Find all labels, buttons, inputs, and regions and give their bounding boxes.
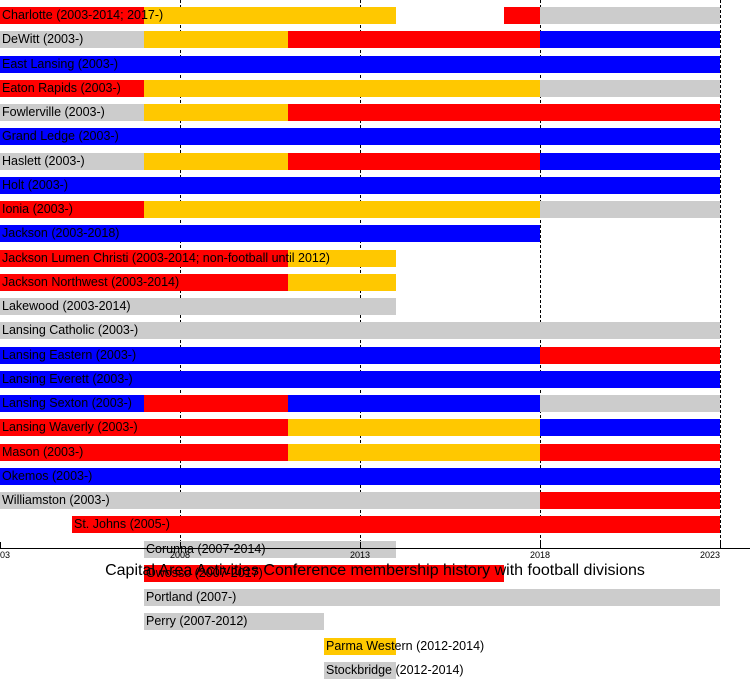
timeline-segment-red <box>709 444 720 461</box>
timeline-row-label: Holt (2003-) <box>0 177 70 194</box>
timeline-row[interactable]: Ionia (2003-) <box>0 201 750 218</box>
timeline-segment-yellow <box>144 80 540 97</box>
timeline-row-label: Jackson Northwest (2003-2014) <box>0 274 181 291</box>
timeline-row[interactable]: Jackson Northwest (2003-2014) <box>0 274 750 291</box>
timeline-row-label: Lakewood (2003-2014) <box>0 298 133 315</box>
timeline-segment-red <box>144 395 288 412</box>
timeline-row-label: Haslett (2003-) <box>0 153 87 170</box>
timeline-segment-blue <box>0 177 720 194</box>
timeline-row[interactable]: Fowlerville (2003-) <box>0 104 750 121</box>
timeline-row[interactable]: Parma Western (2012-2014) <box>0 638 750 655</box>
plot-area: Charlotte (2003-2014; 2017-)DeWitt (2003… <box>0 0 750 550</box>
timeline-row[interactable]: Okemos (2003-) <box>0 468 750 485</box>
timeline-segment-red <box>288 153 540 170</box>
timeline-segment-yellow <box>288 444 540 461</box>
timeline-row[interactable]: Lakewood (2003-2014) <box>0 298 750 315</box>
chart-title: Capital Area Activities Conference membe… <box>0 562 750 580</box>
timeline-row-label: Lansing Waverly (2003-) <box>0 419 140 436</box>
timeline-row[interactable]: Holt (2003-) <box>0 177 750 194</box>
timeline-segment-red <box>540 104 720 121</box>
timeline-segment-yellow <box>144 7 396 24</box>
timeline-row[interactable]: Corunna (2007-2014) <box>0 541 750 558</box>
timeline-row[interactable]: Perry (2007-2012) <box>0 613 750 630</box>
timeline-segment-yellow <box>144 153 288 170</box>
timeline-row[interactable]: Mason (2003-) <box>0 444 750 461</box>
timeline-segment-blue <box>0 468 720 485</box>
timeline-segment-yellow <box>144 104 288 121</box>
timeline-row[interactable]: Jackson (2003-2018) <box>0 225 750 242</box>
timeline-row-label: Okemos (2003-) <box>0 468 94 485</box>
x-tick-label: 2008 <box>170 550 190 560</box>
timeline-row[interactable]: Lansing Sexton (2003-) <box>0 395 750 412</box>
timeline-row-label: Perry (2007-2012) <box>144 613 249 630</box>
timeline-row-label: DeWitt (2003-) <box>0 31 85 48</box>
timeline-row-label: Mason (2003-) <box>0 444 85 461</box>
timeline-segment-yellow <box>288 274 396 291</box>
x-tick-mark <box>540 542 541 549</box>
timeline-row[interactable]: Portland (2007-) <box>0 589 750 606</box>
timeline-row-label: Grand Ledge (2003-) <box>0 128 121 145</box>
timeline-row-label: East Lansing (2003-) <box>0 56 120 73</box>
timeline-row-label: Charlotte (2003-2014; 2017-) <box>0 7 165 24</box>
timeline-row[interactable]: Jackson Lumen Christi (2003-2014; non-fo… <box>0 250 750 267</box>
timeline-row-label: Lansing Eastern (2003-) <box>0 347 138 364</box>
timeline-segment-red <box>540 347 720 364</box>
timeline-row[interactable]: Stockbridge (2012-2014) <box>0 662 750 679</box>
timeline-row-label: Eaton Rapids (2003-) <box>0 80 123 97</box>
timeline-row-label: Ionia (2003-) <box>0 201 75 218</box>
timeline-segment-blue <box>288 395 540 412</box>
timeline-row-label: Jackson Lumen Christi (2003-2014; non-fo… <box>0 250 332 267</box>
timeline-row[interactable]: Grand Ledge (2003-) <box>0 128 750 145</box>
timeline-row-label: St. Johns (2005-) <box>72 516 172 533</box>
timeline-segment-blue <box>540 419 720 436</box>
timeline-segment-red <box>540 492 720 509</box>
x-tick-label: 2018 <box>530 550 550 560</box>
x-tick-mark <box>360 542 361 549</box>
timeline-row-label: Fowlerville (2003-) <box>0 104 107 121</box>
timeline-row[interactable]: DeWitt (2003-) <box>0 31 750 48</box>
timeline-segment-gray <box>540 395 720 412</box>
x-tick-label: 03 <box>0 550 10 560</box>
timeline-row[interactable]: Haslett (2003-) <box>0 153 750 170</box>
timeline-segment-blue <box>540 153 720 170</box>
timeline-segment-gray <box>540 201 720 218</box>
x-tick-label: 2013 <box>350 550 370 560</box>
timeline-segment-yellow <box>144 201 540 218</box>
timeline-segment-red <box>288 31 540 48</box>
timeline-row[interactable]: Eaton Rapids (2003-) <box>0 80 750 97</box>
x-tick-mark <box>180 542 181 549</box>
timeline-segment-gray <box>540 7 720 24</box>
timeline-row[interactable]: Charlotte (2003-2014; 2017-) <box>0 7 750 24</box>
timeline-row-label: Williamston (2003-) <box>0 492 112 509</box>
timeline-row[interactable]: St. Johns (2005-) <box>0 516 750 533</box>
timeline-row[interactable]: Lansing Eastern (2003-) <box>0 347 750 364</box>
timeline-segment-yellow <box>144 31 288 48</box>
timeline-segment-blue <box>540 31 720 48</box>
timeline-row-label: Stockbridge (2012-2014) <box>324 662 466 679</box>
timeline-segment-gray <box>540 80 720 97</box>
x-tick-label: 2023 <box>700 550 720 560</box>
x-tick-mark <box>0 542 1 549</box>
timeline-row[interactable]: East Lansing (2003-) <box>0 56 750 73</box>
timeline-segment-red <box>288 104 540 121</box>
timeline-segment-red <box>504 7 540 24</box>
timeline-row-label: Lansing Catholic (2003-) <box>0 322 140 339</box>
timeline-segment-red <box>540 444 709 461</box>
timeline-row-label: Jackson (2003-2018) <box>0 225 121 242</box>
timeline-row[interactable]: Williamston (2003-) <box>0 492 750 509</box>
timeline-row[interactable]: Lansing Waverly (2003-) <box>0 419 750 436</box>
timeline-row-label: Portland (2007-) <box>144 589 238 606</box>
timeline-row-label: Lansing Everett (2003-) <box>0 371 135 388</box>
timeline-row[interactable]: Lansing Everett (2003-) <box>0 371 750 388</box>
timeline-row-label: Parma Western (2012-2014) <box>324 638 486 655</box>
x-tick-mark <box>720 542 721 549</box>
timeline-row-label: Lansing Sexton (2003-) <box>0 395 134 412</box>
timeline-segment-yellow <box>288 419 540 436</box>
timeline-chart: Charlotte (2003-2014; 2017-)DeWitt (2003… <box>0 0 750 595</box>
timeline-row-label: Corunna (2007-2014) <box>144 541 268 558</box>
timeline-row[interactable]: Lansing Catholic (2003-) <box>0 322 750 339</box>
x-axis-line <box>0 548 750 549</box>
